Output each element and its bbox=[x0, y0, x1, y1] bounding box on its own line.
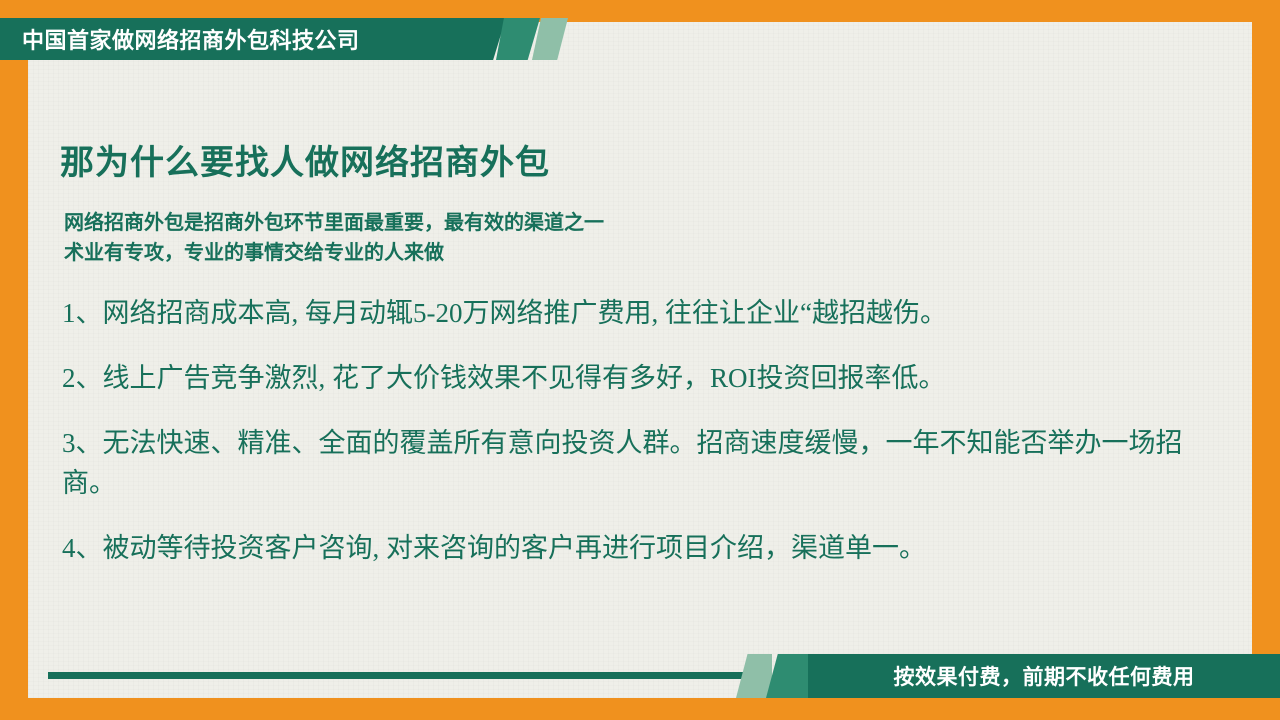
top-banner-text: 中国首家做网络招商外包科技公司 bbox=[22, 23, 360, 55]
footer-bar: 按效果付费，前期不收任何费用 bbox=[0, 654, 1280, 698]
slide-subtitle: 网络招商外包是招商外包环节里面最重要，最有效的渠道之一 术业有专攻，专业的事情交… bbox=[64, 208, 604, 268]
slide-subtitle-line-2: 术业有专攻，专业的事情交给专业的人来做 bbox=[64, 238, 604, 268]
list-item: 3、无法快速、精准、全面的覆盖所有意向投资人群。招商速度缓慢，一年不知能否举办一… bbox=[62, 423, 1192, 503]
slide-root: 中国首家做网络招商外包科技公司 那为什么要找人做网络招商外包 网络招商外包是招商… bbox=[0, 0, 1280, 720]
slide-subtitle-line-1: 网络招商外包是招商外包环节里面最重要，最有效的渠道之一 bbox=[64, 208, 604, 238]
slide-title: 那为什么要找人做网络招商外包 bbox=[60, 135, 550, 184]
top-banner: 中国首家做网络招商外包科技公司 bbox=[0, 18, 460, 60]
footer-banner: 按效果付费，前期不收任何费用 bbox=[808, 654, 1280, 698]
footer-divider-line bbox=[48, 672, 750, 679]
footer-ribbon-tail-mid bbox=[766, 654, 808, 698]
footer-banner-text: 按效果付费，前期不收任何费用 bbox=[894, 661, 1195, 691]
body-list: 1、网络招商成本高, 每月动辄5-20万网络推广费用, 往往让企业“越招越伤。 … bbox=[62, 293, 1192, 593]
list-item: 2、线上广告竞争激烈, 花了大价钱效果不见得有多好，ROI投资回报率低。 bbox=[62, 358, 1192, 398]
list-item: 4、被动等待投资客户咨询, 对来咨询的客户再进行项目介绍，渠道单一。 bbox=[62, 528, 1192, 568]
list-item: 1、网络招商成本高, 每月动辄5-20万网络推广费用, 往往让企业“越招越伤。 bbox=[62, 293, 1192, 333]
